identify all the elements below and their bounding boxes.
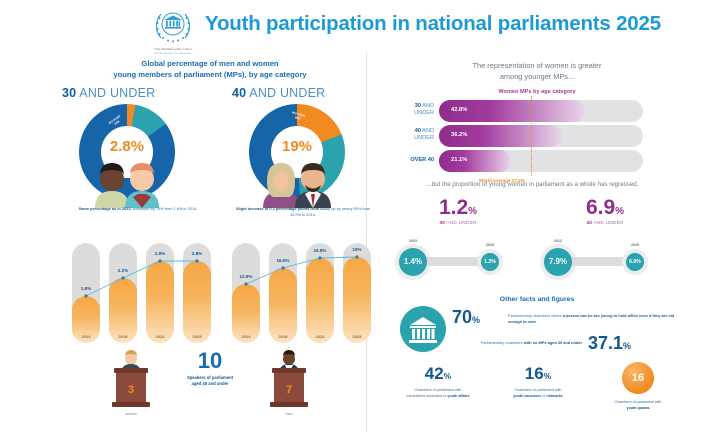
dumbbell-chart-40-and-under: 7.9% 6.9% 2023 2025 [540,240,670,282]
donut-target-value-30: 15% [113,119,120,126]
page-title: Youth participation in national parliame… [205,12,661,36]
horizontal-bar-row: OVER 4021.1% [382,150,652,172]
podium-women-value: 3 [110,384,152,396]
caption-40-and-under: Slight increase of 0.2 percentage points… [233,206,373,218]
fact-37-text: Parliamentary chambers with no MPs aged … [452,340,582,346]
caption-30-and-under: Same percentage as in 2023, increased by… [73,206,203,212]
horizontal-bar-row: 30 ANDUNDER42.8% [382,100,652,122]
world-average-line [531,96,532,176]
bottom-stat-2-line2-bold: youth caucuses [513,394,541,398]
big-stat-40-and-under: 6.9% 40 AND UNDER [545,197,665,226]
horizontal-bar-category-label: OVER 40 [382,157,434,164]
horizontal-bar-track: 21.1% [439,150,643,172]
category-30-rest: AND UNDER [76,86,155,100]
caption-30-bold: Same percentage as in 2023, [79,206,132,211]
trend-line [72,243,220,343]
fact-37-text-plain: Parliamentary chambers [481,340,524,345]
horizontal-bar-chart-women-mps: 30 ANDUNDER42.8%40 ANDUNDER36.2%OVER 402… [382,100,682,176]
fact-37-number-wrap: 37.1% [588,334,631,352]
bottom-stat-3-line2-bold: youth quotas [626,406,649,410]
big-stat-40-sub-rest: AND UNDER [592,221,624,226]
horizontal-bar-row: 40 ANDUNDER36.2% [382,125,652,147]
horizontal-bar-track: 42.8% [439,100,643,122]
podium-men-label: men [259,412,319,416]
right-heading-line2: among younger MPs... [382,71,692,82]
dumbbell-year-2023-30: 2023 [398,239,428,243]
big-stat-30-pct: % [468,206,477,217]
big-stat-30-number: 1.2 [439,196,468,219]
people-illustration-40 [247,152,347,208]
people-illustration-30 [77,152,177,208]
donut-target-annotation-40: IPU target 30% [281,109,316,124]
horizontal-bar-value: 21.1% [451,157,467,163]
bottom-stat-youth-quotas: 16 Chambers of parliament with youth quo… [578,362,698,411]
bottom-stat-2-line2-bold2: networks [547,394,563,398]
fact-70-number: 70 [452,307,472,327]
horizontal-bar-value: 36.2% [451,132,467,138]
ipu-logo: Inter-Parliamentary Union For democracy.… [142,6,204,56]
infographic-page: Inter-Parliamentary Union For democracy.… [0,0,710,440]
panel-divider [366,52,367,432]
category-40-number: 40 [232,86,246,100]
bottom-stat-2-pct: % [544,371,552,381]
category-label-30: 30 AND UNDER [62,86,155,100]
big-stat-40-pct: % [615,206,624,217]
women-mps-chart-subtitle: Women MPs by age category [382,89,692,95]
fact-70-percent: 70% Parliamentary chambers where a perso… [452,308,480,328]
big-stat-30-and-under: 1.2% 30 AND UNDER [398,197,518,226]
caption-30-rest: increased by 75% from 1.6% in 2014. [133,206,198,211]
speakers-podium-group: 3 women 10 Speakers of parliament aged 4… [110,348,310,434]
left-heading-line1: Global percentage of men and women [55,58,365,69]
dumbbell-value-2025-30: 1.2% [481,253,499,271]
podium-women: 3 women [110,350,152,415]
category-40-rest: AND UNDER [246,86,325,100]
speakers-total: 10 Speakers of parliament aged 40 and un… [170,350,250,388]
parliament-building-icon [400,306,446,352]
podium-men-value: 7 [268,384,310,396]
globe-icon: 16 [622,362,654,394]
horizontal-bar-value: 42.8% [451,107,467,113]
fact-37-pct: % [623,341,631,351]
regression-text: ...but the proportion of young women in … [360,181,705,188]
other-facts-heading: Other facts and figures [382,296,692,303]
right-panel-heading: The representation of women is greater a… [382,60,692,82]
ipu-emblem-icon [153,6,193,46]
caption-40-bold: Slight increase of 0.2 percentage points… [236,206,330,211]
logo-tagline: For democracy. For everyone. [142,52,204,56]
dumbbell-year-2025-40: 2025 [620,243,650,247]
trend-line [232,243,380,343]
category-30-number: 30 [62,86,76,100]
speakers-caption-line2: aged 40 and under [170,381,250,387]
fact-70-pct: % [472,315,480,325]
podium-men: 7 men [268,350,310,415]
right-heading-line1: The representation of women is greater [382,60,692,71]
podium-women-label: women [101,412,161,416]
big-stat-30-sub-rest: AND UNDER [445,221,477,226]
horizontal-bar-track: 36.2% [439,125,643,147]
dumbbell-year-2025-30: 2025 [475,243,505,247]
dumbbell-value-2023-30: 1.4% [399,248,427,276]
horizontal-bar-fill [439,150,511,172]
horizontal-bar-category-label: 40 ANDUNDER [382,128,434,143]
dumbbell-chart-30-and-under: 1.4% 1.2% 2023 2025 [395,240,525,282]
speakers-total-number: 10 [170,350,250,372]
fact-70-text: Parliamentary chambers where a person ca… [508,313,688,325]
big-stat-40-number: 6.9 [586,196,615,219]
dumbbell-value-2025-40: 6.9% [626,253,644,271]
bar-chart-40-and-under: 201412.9%201816.5%202318.8%202519% [232,243,380,343]
fact-37-text-bold: with no MPs aged 30 and under [524,340,582,345]
left-panel-heading: Global percentage of men and women young… [55,58,365,80]
bar-chart-30-and-under: 20141.6%20182.2%20232.8%20252.8% [72,243,220,343]
fact-70-text-plain: Parliamentary chambers where [508,313,563,318]
bottom-stat-1-number: 42 [425,364,444,383]
donut-target-value-40: 30% [294,115,301,120]
fact-37-number: 37.1 [588,333,623,353]
header: Inter-Parliamentary Union For democracy.… [0,0,710,52]
horizontal-bar-category-label: 30 ANDUNDER [382,103,434,118]
left-heading-line2: young members of parliament (MPs), by ag… [55,69,365,80]
bottom-stat-1-line2-plain: committees dedicated to [406,394,447,398]
category-label-40: 40 AND UNDER [232,86,325,100]
bottom-stat-1-pct: % [444,371,452,381]
bottom-stat-1-line2-bold: youth affairs [447,394,469,398]
bottom-stat-2-number: 16 [525,364,544,383]
logo-name: Inter-Parliamentary Union [142,47,204,51]
dumbbell-value-2023-40: 7.9% [544,248,572,276]
dumbbell-year-2023-40: 2023 [543,239,573,243]
